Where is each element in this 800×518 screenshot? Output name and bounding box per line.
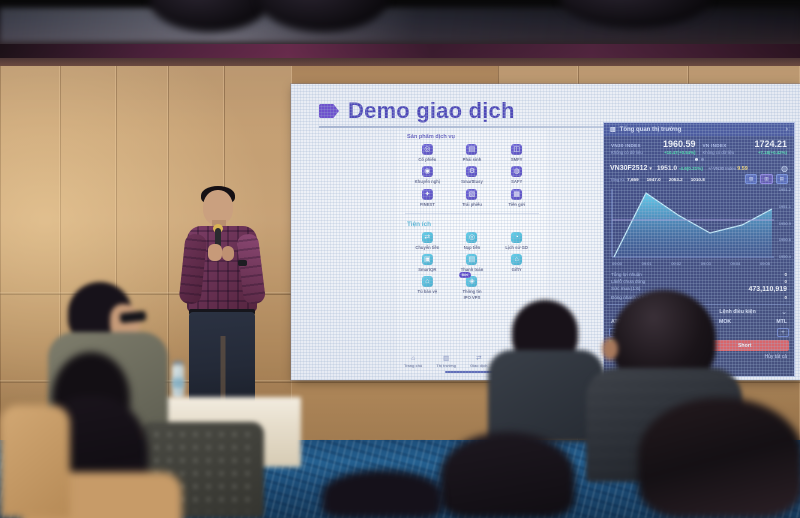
stat-open: 1010.8 xyxy=(689,177,705,182)
section-heading-utilities: Tiện ích xyxy=(397,214,547,231)
app-item-label: Phái sinh xyxy=(463,157,482,162)
app-item-label: Tiền gửi xyxy=(508,202,524,207)
payment-icon: ▤ xyxy=(466,254,477,265)
section-heading-products: Sản phẩm dịch vụ xyxy=(397,130,547,143)
bars-icon: ▥ xyxy=(610,126,616,133)
stat-value: 0 xyxy=(784,295,787,300)
utility-icon-grid: ⇄ Chuyển tiền ◎ Nạp tiền ◔ Lịch sử GD ▣ … xyxy=(397,231,547,302)
tab-giao-dich[interactable]: ⇄ Giao dịch xyxy=(470,356,487,368)
index-note: Không có dữ liệu xyxy=(611,150,643,155)
app-item-thanh-toan[interactable]: ▤ Thanh toán xyxy=(450,254,495,272)
app-item-empty xyxy=(494,276,539,300)
index-name: VN30 INDEX xyxy=(611,143,641,148)
chart-icon: ◎ xyxy=(422,144,433,155)
y-tick: 1951.1 xyxy=(779,204,791,209)
gear-icon: ⚙ xyxy=(466,166,477,177)
gift-icon: ⌂ xyxy=(511,254,522,265)
app-item-label: SAFY xyxy=(511,179,522,184)
slide-title-row: Demo giao dịch xyxy=(319,98,515,124)
chevron-down-icon[interactable]: ⌄ xyxy=(781,308,791,316)
audience-ear xyxy=(602,338,618,360)
presenter-watch xyxy=(238,260,247,266)
app-item-lich-su-gd[interactable]: ◔ Lịch sử GD xyxy=(494,232,539,250)
symbol-stats-row: Tổng KL7,659 1947.0 2053.2 1010.8 ▨ ▥ ▤ xyxy=(604,173,794,186)
app-item-label: SmartEasy xyxy=(461,179,483,184)
x-tick: 09:03 xyxy=(701,261,711,266)
app-item-label: GiftY xyxy=(512,267,522,272)
x-tick: 09:02 xyxy=(671,261,681,266)
audience-member-foreground-center-right xyxy=(440,432,575,518)
audience-hair xyxy=(638,398,800,518)
symbol-code[interactable]: VN30F2512 ▾ xyxy=(610,165,652,172)
presenter-hand-left xyxy=(208,244,222,261)
intraday-chart[interactable]: 1951.2 1951.1 1950.9 1950.6 1950.4 09:00… xyxy=(608,187,792,271)
y-tick: 1950.9 xyxy=(779,221,791,226)
stat-value: 473,110,919 xyxy=(748,286,787,293)
audience-member-tan-coat xyxy=(0,405,70,518)
tab-thi-truong[interactable]: ▥ Thị trường xyxy=(436,356,456,368)
tab-label: Trang chủ xyxy=(404,364,422,368)
symbol-row: VN30F2512 ▾ 1951.0 -4.6(0.21%) +/-VN30 I… xyxy=(604,162,794,173)
app-item-label: Thông tin IPO VPS xyxy=(462,289,481,300)
globe-icon[interactable]: ◍ xyxy=(781,164,788,173)
briefcase-icon: ▤ xyxy=(466,144,477,155)
app-item-tu-bao-ve[interactable]: ⌂ Tủ bảo vệ xyxy=(405,276,450,300)
y-tick: 1950.6 xyxy=(779,237,791,242)
index-change: +7.18(+0.42%) xyxy=(758,150,787,155)
app-item-trai-phieu[interactable]: ▧ Trái phiếu xyxy=(450,189,495,207)
lightbulb-icon: ◉ xyxy=(422,166,433,177)
x-tick: 09:05 xyxy=(760,261,770,266)
history-icon: ◔ xyxy=(511,232,522,243)
basis-value: 9.59 xyxy=(737,166,748,172)
index-card-vn30[interactable]: VN30 INDEX 1960.59 Không có dữ liệu +10.… xyxy=(608,139,699,155)
app-item-phai-sinh[interactable]: ▤ Phái sinh xyxy=(450,144,495,162)
audience-member-foreground-center xyxy=(322,470,442,518)
index-card-vnindex[interactable]: VN INDEX 1724.21 Không có dữ liệu +7.18(… xyxy=(699,139,791,155)
star-icon: ✦ xyxy=(422,189,433,200)
tab-label: Thị trường xyxy=(436,364,456,368)
chart-x-axis: 09:00 09:01 09:02 09:03 09:04 09:05 xyxy=(608,261,792,266)
deposit-icon: ◎ xyxy=(466,232,477,243)
index-note: Không có dữ liệu xyxy=(703,150,735,155)
stat-row-unrealized: Lãi/lỗ chưa đóng 0 xyxy=(604,278,794,285)
bottle-label xyxy=(172,378,184,388)
chart-svg xyxy=(608,187,776,261)
app-item-smarteasy[interactable]: ⚙ SmartEasy xyxy=(450,166,495,184)
app-item-smartqr[interactable]: ▣ SmartQR xyxy=(405,254,450,272)
presenter-hand-right xyxy=(222,246,234,261)
market-icon: ▥ xyxy=(443,356,449,363)
qr-icon: ▣ xyxy=(422,254,433,265)
app-item-khuyen-nghi[interactable]: ◉ Khuyến nghị xyxy=(405,166,450,184)
app-item-label: FINEST xyxy=(420,202,435,207)
home-icon: ⌂ xyxy=(411,356,415,363)
app-item-thong-tin-ipo[interactable]: Mới ◈ Thông tin IPO VPS xyxy=(450,276,495,300)
app-item-label: Tủ bảo vệ xyxy=(418,289,438,294)
audience-member-foreground-right xyxy=(638,398,800,518)
order-type-mtl[interactable]: MTL xyxy=(776,319,787,325)
x-tick: 09:04 xyxy=(730,261,740,266)
tab-label: Giao dịch xyxy=(470,364,487,368)
new-badge: Mới xyxy=(459,272,471,278)
index-value: 1960.59 xyxy=(663,139,696,149)
app-item-gifty[interactable]: ⌂ GiftY xyxy=(494,254,539,272)
index-name: VN INDEX xyxy=(703,143,727,148)
stat-value: 0 xyxy=(784,272,787,277)
index-summary-row: VN30 INDEX 1960.59 Không có dữ liệu +10.… xyxy=(604,136,794,156)
y-tick: 1951.2 xyxy=(779,187,791,192)
stat-label: Lãi/lỗ chưa đóng xyxy=(611,279,645,284)
pager-dot[interactable] xyxy=(695,158,698,161)
bank-icon: ◫ xyxy=(511,144,522,155)
x-tick: 09:00 xyxy=(612,261,622,266)
stat-value: 0 xyxy=(784,279,787,284)
app-item-co-phieu[interactable]: ◎ Cổ phiếu xyxy=(405,144,450,162)
app-item-safy[interactable]: ◍ SAFY xyxy=(494,166,539,184)
audience-coat xyxy=(0,405,70,518)
app-item-label: SmartQR xyxy=(418,267,436,272)
app-item-label: Trái phiếu xyxy=(462,202,482,207)
dashboard-header: ▥ Tổng quan thị trường › xyxy=(604,123,794,136)
chart-y-axis: 1951.2 1951.1 1950.9 1950.6 1950.4 xyxy=(779,187,791,259)
product-icon-grid: ◎ Cổ phiếu ▤ Phái sinh ◫ SMFY ◉ Khuyến n… xyxy=(397,143,547,209)
app-item-label: Nạp tiền xyxy=(464,245,481,250)
stat-label: Tổng lợi nhuận xyxy=(611,272,642,277)
presenter xyxy=(170,186,276,402)
app-item-label: SMFY xyxy=(511,157,523,162)
app-item-nap-tien[interactable]: ◎ Nạp tiền xyxy=(450,232,495,250)
conference-scene: Demo giao dịch Sản phẩm dịch vụ ◎ Cổ phi… xyxy=(0,0,800,518)
chevron-down-icon[interactable]: ▾ xyxy=(649,166,652,172)
more-chip-icon[interactable]: ▤ xyxy=(776,174,788,184)
depth-chip-icon[interactable]: ▥ xyxy=(760,174,772,184)
shield-icon: ◍ xyxy=(511,166,522,177)
stat-high: 2053.2 xyxy=(667,177,683,182)
app-item-label: Lịch sử GD xyxy=(505,245,528,250)
lock-icon: ⌂ xyxy=(422,276,433,287)
quantity-plus-button[interactable]: + xyxy=(777,328,789,337)
app-item-label: Chuyển tiền xyxy=(415,245,439,250)
tab-trang-chu[interactable]: ⌂ Trang chủ xyxy=(404,356,422,368)
wallet-icon: ▦ xyxy=(511,189,522,200)
page-title: Demo giao dịch xyxy=(348,98,515,124)
y-tick: 1950.4 xyxy=(779,254,791,259)
ceiling-light-strip xyxy=(0,44,800,58)
symbol-price: 1951.0 -4.6(0.21%) xyxy=(657,165,703,172)
pager-dot[interactable] xyxy=(701,158,704,161)
flag-bullet-icon xyxy=(319,104,339,118)
app-item-finest[interactable]: ✦ FINEST xyxy=(405,189,450,207)
dashboard-title: Tổng quan thị trường xyxy=(620,127,682,133)
app-item-tien-gui[interactable]: ▦ Tiền gửi xyxy=(494,189,539,207)
index-value: 1724.21 xyxy=(754,139,787,149)
stat-tong-kl: Tổng KL7,659 xyxy=(610,177,639,182)
stat-low: 1947.0 xyxy=(645,177,661,182)
app-item-chuyen-tien[interactable]: ⇄ Chuyển tiền xyxy=(405,232,450,250)
app-item-label: Cổ phiếu xyxy=(418,157,436,162)
presenter-leg-gap xyxy=(221,336,226,402)
app-item-label: Khuyến nghị xyxy=(415,179,440,184)
chart-tool-chips: ▨ ▥ ▤ xyxy=(745,174,788,184)
app-item-smfy[interactable]: ◫ SMFY xyxy=(494,144,539,162)
x-tick: 09:01 xyxy=(642,261,652,266)
audience-hair xyxy=(322,470,442,518)
stat-row-profit: Tổng lợi nhuận 0 xyxy=(604,271,794,278)
chart-chip-icon[interactable]: ▨ xyxy=(745,174,757,184)
audience-hair xyxy=(440,432,575,518)
transfer-icon: ⇄ xyxy=(422,232,433,243)
chevron-right-icon[interactable]: › xyxy=(786,126,788,133)
eyeglasses xyxy=(120,311,147,324)
index-change: +10.47(+0.54%) xyxy=(664,150,696,155)
basis-readout: +/-VN30 Index 9.59 xyxy=(708,166,748,172)
trade-icon: ⇄ xyxy=(476,356,481,363)
symbol-delta: -4.6(0.21%) xyxy=(679,166,703,171)
document-icon: ▧ xyxy=(466,189,477,200)
